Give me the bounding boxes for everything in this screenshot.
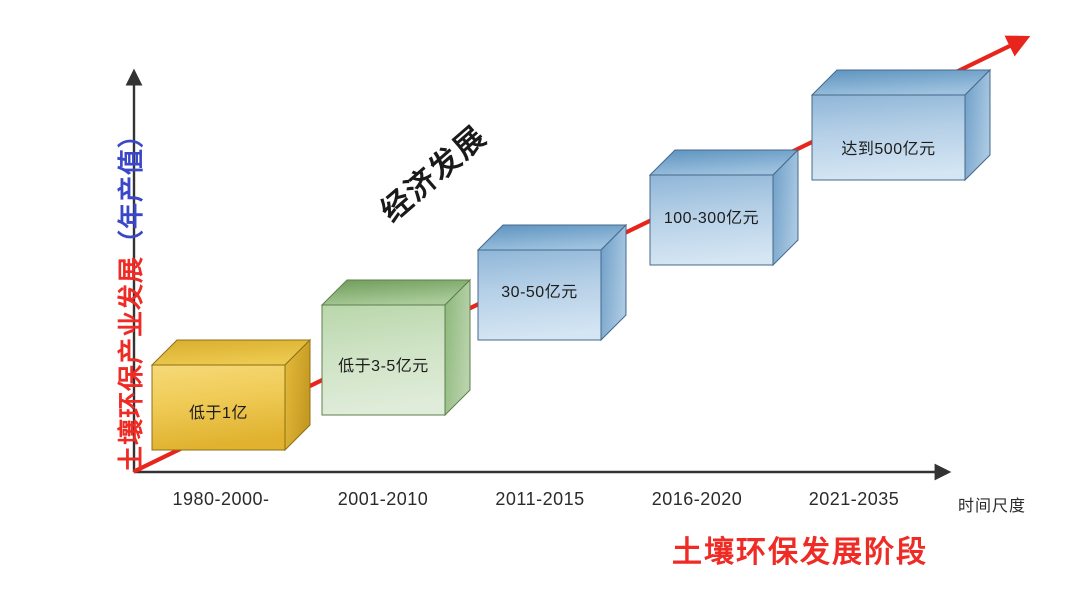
x-tick-label-4: 2016-2020 bbox=[634, 489, 760, 510]
diagram-canvas: 土壤环保产业发展（年产值） 经济发展 低于1亿 低于3-5亿元 30-50亿元 … bbox=[0, 0, 1080, 607]
stage-box-5[interactable] bbox=[812, 70, 990, 180]
x-tick-label-2: 2001-2010 bbox=[320, 489, 446, 510]
y-axis-label-sub: （年产值） bbox=[116, 121, 146, 256]
x-tick-label-3: 2011-2015 bbox=[477, 489, 603, 510]
y-axis-label: 土壤环保产业发展（年产值） bbox=[108, 52, 154, 472]
stage-box-4[interactable] bbox=[650, 150, 798, 265]
diagram-svg bbox=[0, 0, 1080, 607]
x-tick-label-1: 1980-2000- bbox=[158, 489, 284, 510]
y-axis-label-main: 土壤环保产业发展 bbox=[116, 256, 146, 472]
diagram-bottom-title: 土壤环保发展阶段 bbox=[672, 527, 928, 571]
stage-box-1[interactable] bbox=[152, 340, 310, 450]
stage-box-2[interactable] bbox=[322, 280, 470, 415]
x-tick-label-5: 2021-2035 bbox=[791, 489, 917, 510]
stage-box-3[interactable] bbox=[478, 225, 626, 340]
x-axis-unit-label: 时间尺度 bbox=[958, 492, 1026, 516]
